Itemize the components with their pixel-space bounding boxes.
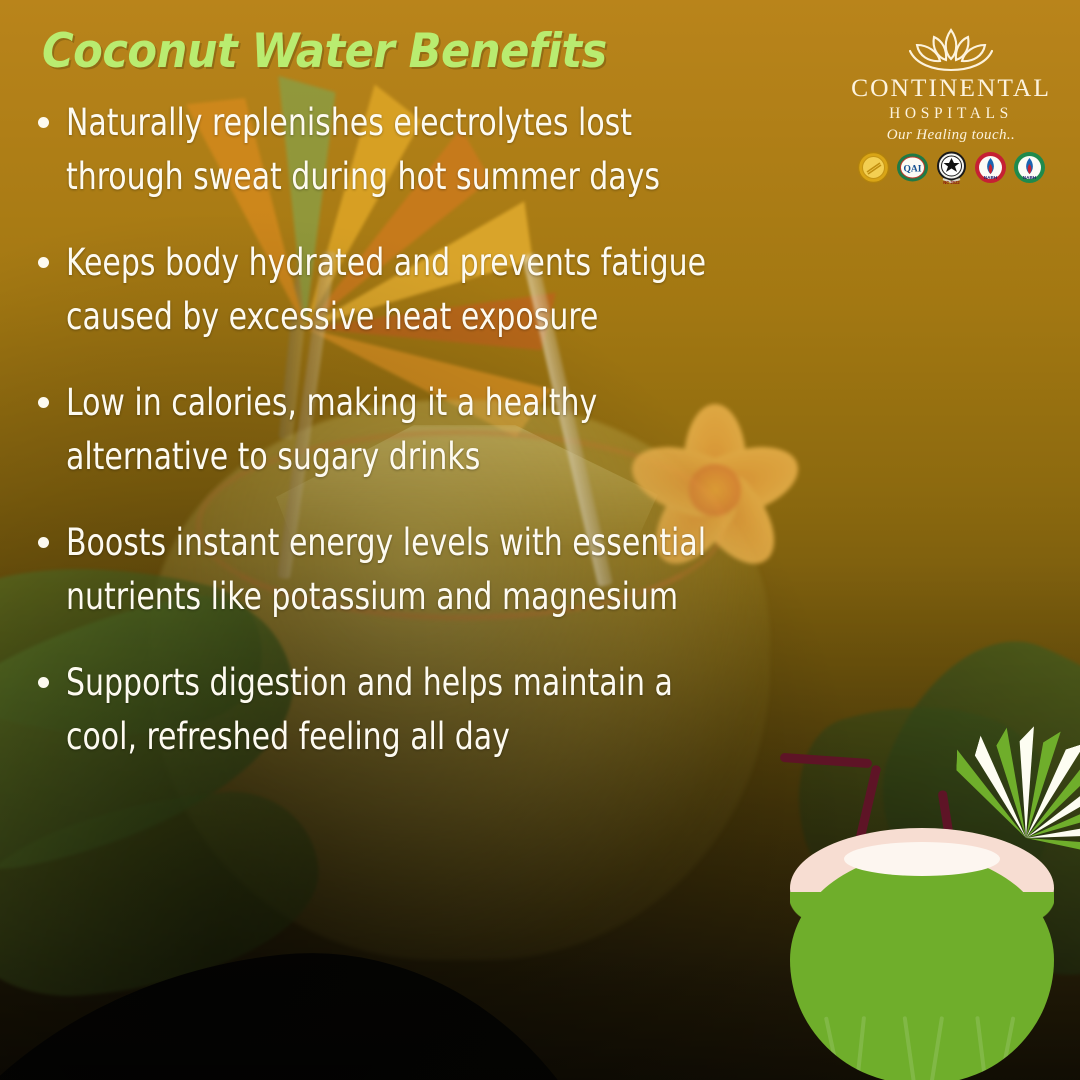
lotus-icon: [896, 24, 1006, 72]
accreditation-badges: QAI NC 2022 NA: [848, 151, 1054, 184]
coconut-scallop-edge: [790, 892, 1054, 940]
list-item-label: Low in calories, making it a healthy alt…: [66, 376, 741, 484]
list-item: Boosts instant energy levels with essent…: [26, 516, 816, 624]
coconut-shell: [790, 854, 1054, 1080]
bullet-dot-icon: [38, 397, 49, 408]
benefits-list: Naturally replenishes electrolytes lost …: [26, 96, 816, 796]
shell-texture: [824, 1016, 844, 1080]
brand-logo: CONTINENTAL HOSPITALS Our Healing touch.…: [848, 24, 1054, 184]
svg-text:QAI: QAI: [903, 165, 921, 175]
bullet-dot-icon: [38, 537, 49, 548]
svg-text:NC 2022: NC 2022: [943, 180, 960, 184]
page-title: Coconut Water Benefits: [42, 24, 607, 79]
logo-brand-name: CONTINENTAL: [848, 75, 1054, 101]
coconut-opening: [844, 842, 1000, 876]
list-item-label: Supports digestion and helps maintain a …: [66, 656, 741, 764]
nabh-green-badge: NABH: [1013, 151, 1046, 184]
shell-texture: [928, 1016, 944, 1080]
coconut-drink-illustration: [782, 742, 1080, 1080]
nc-2022-star-badge: NC 2022: [935, 151, 968, 184]
gold-seal-badge: [857, 151, 890, 184]
qai-accreditation-badge: QAI: [896, 151, 929, 184]
bullet-dot-icon: [38, 257, 49, 268]
svg-text:NABH: NABH: [1022, 175, 1036, 180]
list-item-label: Boosts instant energy levels with essent…: [66, 516, 741, 624]
bullet-dot-icon: [38, 677, 49, 688]
list-item: Supports digestion and helps maintain a …: [26, 656, 816, 764]
list-item-label: Naturally replenishes electrolytes lost …: [66, 96, 741, 204]
cocktail-umbrella-icon: [960, 750, 1080, 842]
list-item: Low in calories, making it a healthy alt…: [26, 376, 816, 484]
nabh-red-badge: NABH: [974, 151, 1007, 184]
poster-canvas: Coconut Water Benefits CONTINENTAL HOSPI…: [0, 0, 1080, 1080]
shell-texture: [854, 1016, 866, 1080]
logo-tagline: Our Healing touch..: [848, 127, 1054, 144]
shell-texture: [903, 1016, 918, 1080]
list-item: Naturally replenishes electrolytes lost …: [26, 96, 816, 204]
shell-texture: [997, 1016, 1016, 1080]
list-item: Keeps body hydrated and prevents fatigue…: [26, 236, 816, 344]
svg-text:NABH: NABH: [983, 175, 997, 180]
shell-texture: [975, 1016, 988, 1080]
list-item-label: Keeps body hydrated and prevents fatigue…: [66, 236, 741, 344]
bullet-dot-icon: [38, 117, 49, 128]
logo-brand-subname: HOSPITALS: [848, 102, 1054, 125]
